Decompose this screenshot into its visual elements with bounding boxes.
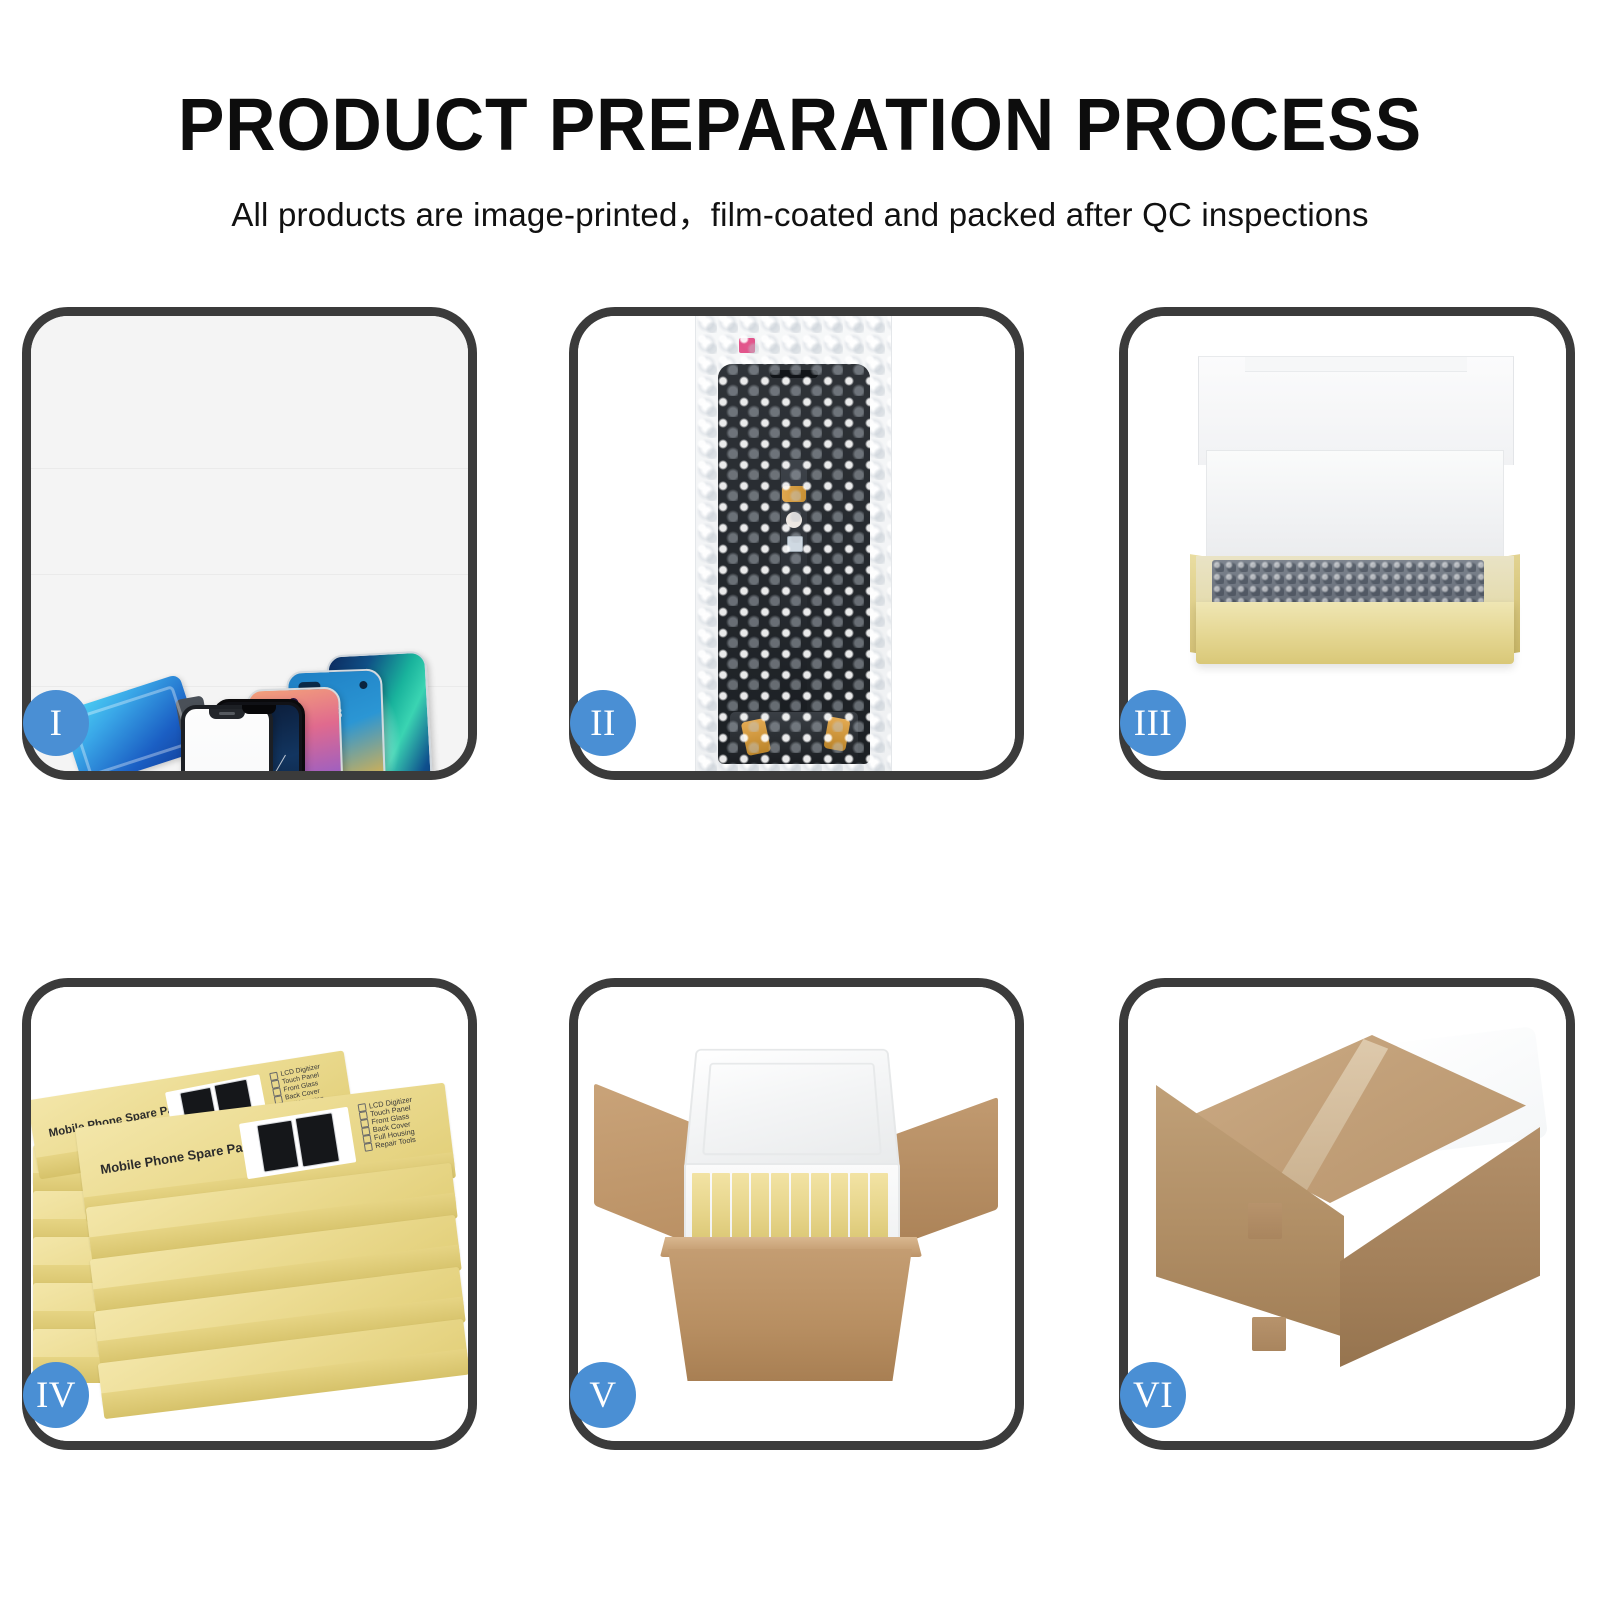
bubble-wrapped-lcd-image	[578, 316, 1015, 771]
process-step-4: Mobile Phone Spare Parts LCD Digitizer T…	[22, 978, 477, 1450]
bubble-wrap-contents	[1212, 560, 1484, 604]
open-inner-box-image	[1128, 316, 1566, 771]
step-badge-3: III	[1120, 690, 1186, 756]
process-step-grid: 08:08Mon, Sep	[0, 0, 1600, 1600]
bubble-wrap-sleeve	[695, 316, 892, 771]
foam-carton-packing-image	[578, 987, 1015, 1441]
step-badge-1: I	[23, 690, 89, 756]
step-badge-5: V	[570, 1362, 636, 1428]
carton-tape-patch-top	[1248, 1203, 1282, 1239]
pink-qc-label	[739, 338, 755, 353]
shipping-carton-open	[594, 1037, 998, 1397]
process-step-1: 08:08Mon, Sep	[22, 307, 477, 780]
yellow-inner-box	[1190, 356, 1520, 726]
sealed-shipping-carton-image	[1128, 987, 1566, 1441]
retail-box-checklist-main: LCD Digitizer Touch Panel Front Glass Ba…	[358, 1096, 419, 1152]
box-stack: Mobile Phone Spare Parts LCD Digitizer T…	[31, 987, 468, 1441]
step-badge-6: VI	[1120, 1362, 1186, 1428]
front-glass-panel	[181, 705, 273, 771]
sealed-carton	[1156, 1035, 1540, 1379]
carton-flap-right	[888, 1097, 998, 1249]
spare-parts-collage-image: 08:08Mon, Sep	[31, 316, 468, 771]
step-badge-4: IV	[23, 1362, 89, 1428]
process-step-2	[569, 307, 1024, 780]
process-step-6	[1119, 978, 1575, 1450]
foam-box-lid	[684, 1049, 901, 1172]
lcd-assembly	[718, 364, 870, 764]
step-badge-2: II	[570, 690, 636, 756]
box-front-face	[1196, 602, 1514, 664]
carton-tape-patch-bottom	[1252, 1317, 1286, 1351]
process-step-5	[569, 978, 1024, 1450]
stacked-retail-boxes-image: Mobile Phone Spare Parts LCD Digitizer T…	[31, 987, 468, 1441]
carton-body	[668, 1249, 912, 1381]
process-step-3	[1119, 307, 1575, 780]
box-lid-back	[1198, 356, 1514, 465]
